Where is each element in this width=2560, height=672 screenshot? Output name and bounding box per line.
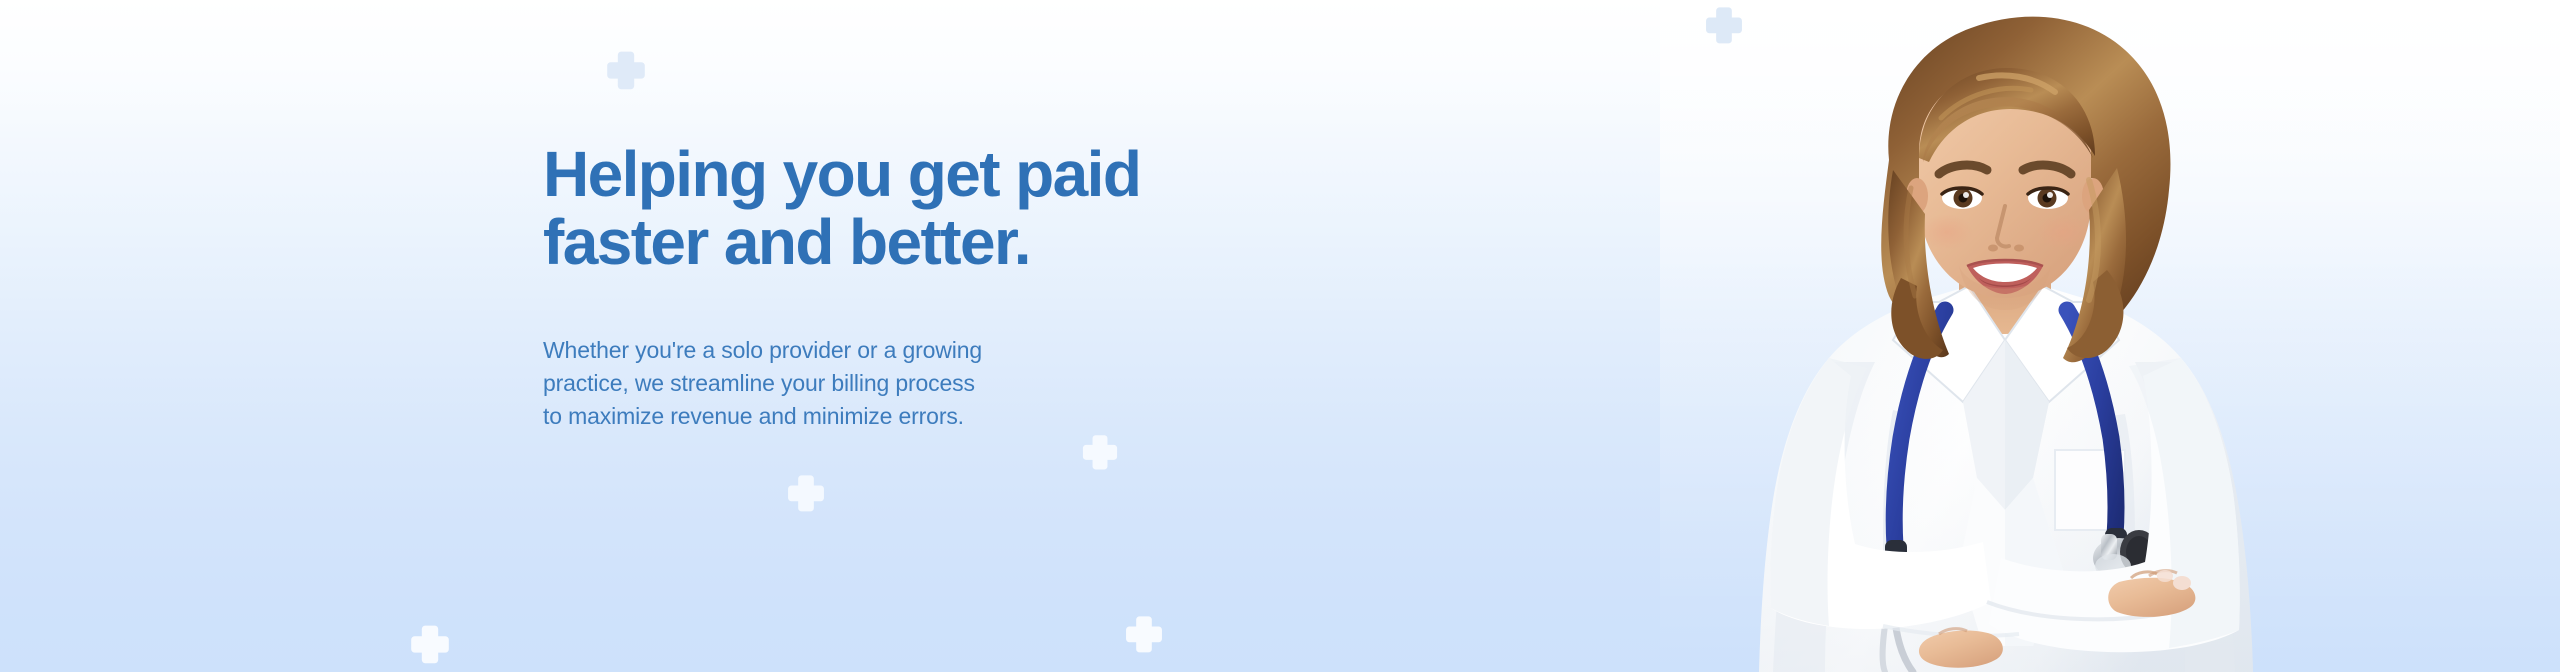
cross-bottom-left-icon	[408, 622, 452, 666]
hero-banner: Helping you get paid faster and better. …	[0, 0, 2560, 672]
doctor-photo	[1733, 10, 2278, 672]
hero-headline: Helping you get paid faster and better.	[543, 140, 1303, 277]
cross-mid-left-icon	[785, 472, 827, 514]
cross-bottom-center-icon	[1123, 613, 1165, 655]
cross-mid-right-icon	[1080, 432, 1120, 472]
hero-subtext: Whether you're a solo provider or a grow…	[543, 334, 1303, 433]
cross-top-left-icon	[604, 48, 648, 92]
hero-copy-block: Helping you get paid faster and better. …	[543, 140, 1303, 433]
